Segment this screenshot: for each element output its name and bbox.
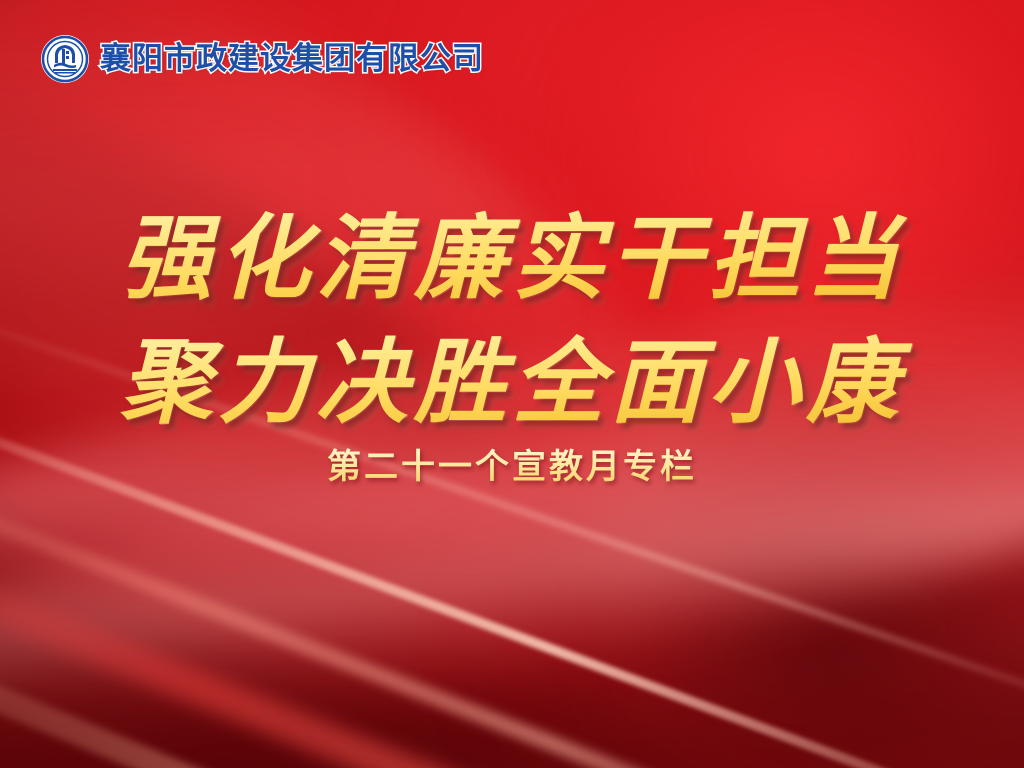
company-logo-lockup: 襄阳市政建设集团有限公司: [40, 34, 484, 84]
company-name-text: 襄阳市政建设集团有限公司: [100, 44, 484, 75]
subtitle-text: 第二十一个宣教月专栏: [0, 446, 1024, 488]
company-circle-emblem-icon: [40, 34, 90, 84]
headline-line-1: 强化清廉实干担当: [0, 196, 1024, 320]
headline-block: 强化清廉实干担当 聚力决胜全面小康: [0, 196, 1024, 444]
poster-canvas: 襄阳市政建设集团有限公司 强化清廉实干担当 聚力决胜全面小康 第二十一个宣教月专…: [0, 0, 1024, 768]
headline-line-2: 聚力决胜全面小康: [0, 320, 1024, 444]
